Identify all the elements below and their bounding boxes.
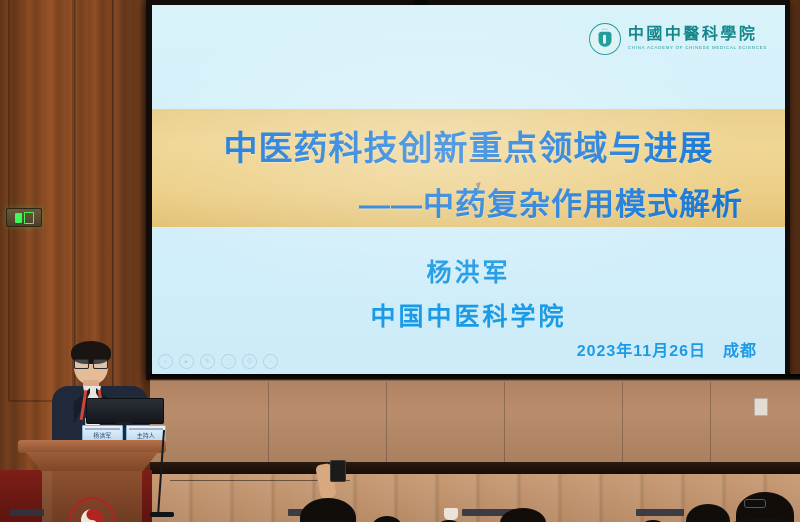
emblem-shield (598, 32, 611, 47)
presenter-affiliation: 中国中医科学院 (152, 297, 785, 333)
slide-title-main: 中医药科技创新重点领域与进展 (152, 121, 785, 170)
podium-mid (26, 452, 158, 472)
conference-hall-screenshot: •••• 中國中醫科學院 CHINA ACADEMY OF CHINESE ME… (0, 0, 800, 522)
podium-top (18, 440, 166, 453)
slide-media-controls[interactable]: ‹ ▸ ✎ ⬚ ⚲ − (158, 354, 278, 369)
pointer-icon[interactable]: ⬚ (221, 354, 236, 369)
wall-panel-outline (8, 0, 74, 402)
lectern-podium (18, 440, 166, 522)
academy-emblem-icon: •••• (589, 23, 621, 55)
microphone-base (150, 512, 174, 517)
emergency-exit-sign (6, 208, 42, 227)
wall-outlet (754, 398, 768, 416)
exit-door-icon (24, 212, 34, 224)
slide-title-sub: ——中药复杂作用模式解析 (359, 179, 743, 224)
play-icon[interactable]: ▸ (179, 354, 194, 369)
institution-logo: •••• 中國中醫科學院 CHINA ACADEMY OF CHINESE ME… (589, 23, 767, 55)
logo-chinese-text: 中國中醫科學院 (628, 27, 767, 43)
slide-date-location: 2023年11月26日 成都 (577, 337, 757, 361)
zoom-glyph: ⚲ (247, 358, 252, 365)
pen-icon[interactable]: ✎ (200, 354, 215, 369)
exit-figure-icon (15, 213, 22, 223)
emblem-dots: •••• (590, 27, 620, 31)
pen-glyph: ✎ (205, 358, 211, 365)
presenter-name: 杨洪军 (152, 253, 785, 289)
previous-glyph: ‹ (164, 358, 166, 365)
pointer-glyph: ⬚ (225, 358, 232, 365)
tan-wall-panels (150, 374, 800, 470)
presentation-slide[interactable]: •••• 中國中醫科學院 CHINA ACADEMY OF CHINESE ME… (152, 5, 785, 374)
monitor-screen (86, 398, 164, 424)
zoom-icon[interactable]: ⚲ (242, 354, 257, 369)
previous-icon[interactable]: ‹ (158, 354, 173, 369)
minimize-icon[interactable]: − (263, 354, 278, 369)
play-glyph: ▸ (185, 358, 189, 365)
podium-monitor (86, 398, 162, 428)
logo-english-text: CHINA ACADEMY OF CHINESE MEDICAL SCIENCE… (628, 46, 767, 50)
yin-yang-taiji-icon (69, 497, 115, 522)
minimize-glyph: − (268, 358, 272, 365)
speaker-glasses-icon (74, 359, 108, 367)
podium-body (42, 471, 142, 522)
